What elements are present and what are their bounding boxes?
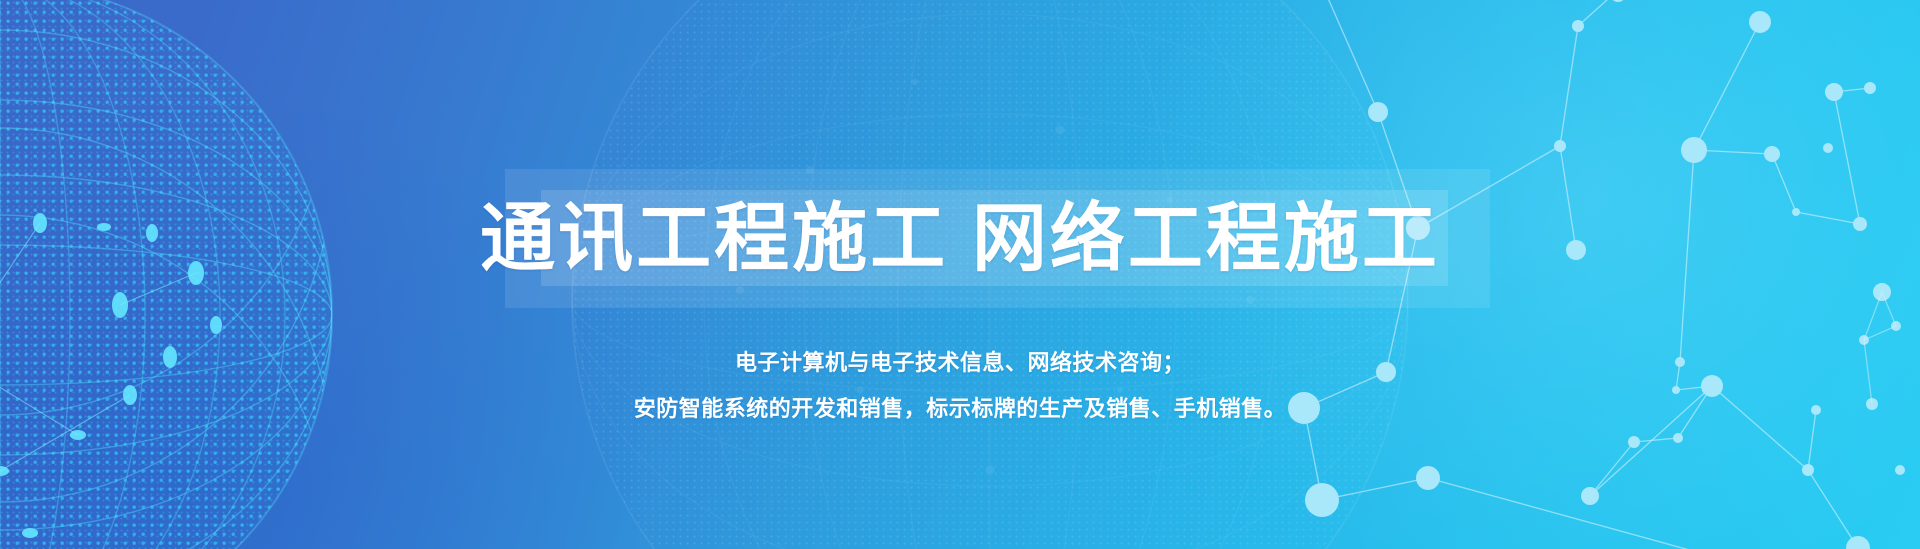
banner-subtitle: 电子计算机与电子技术信息、网络技术咨询； 安防智能系统的开发和销售，标示标牌的生… [0, 340, 1920, 432]
page-title: 通讯工程施工 网络工程施工 [0, 186, 1920, 290]
banner-content: 通讯工程施工 网络工程施工 电子计算机与电子技术信息、网络技术咨询； 安防智能系… [0, 0, 1920, 549]
subtitle-line-2: 安防智能系统的开发和销售，标示标牌的生产及销售、手机销售。 [0, 386, 1920, 432]
hero-banner: 通讯工程施工 网络工程施工 电子计算机与电子技术信息、网络技术咨询； 安防智能系… [0, 0, 1920, 549]
subtitle-line-1: 电子计算机与电子技术信息、网络技术咨询； [0, 340, 1920, 386]
